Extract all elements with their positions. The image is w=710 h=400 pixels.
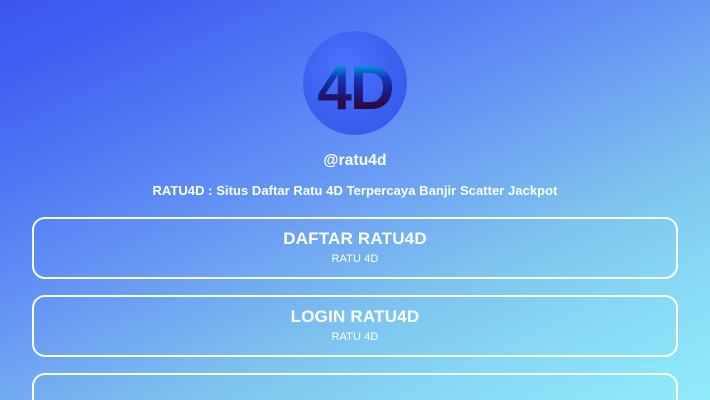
link-button-subtitle: RATU 4D [332, 332, 379, 343]
link-button-login[interactable]: LOGIN RATU4D RATU 4D [32, 295, 678, 357]
avatar: 4D [303, 31, 407, 135]
link-button-title: DAFTAR RATU4D [283, 230, 427, 247]
avatar-4d-logo-icon: 4D [303, 31, 407, 135]
profile-handle: @ratu4d [323, 153, 386, 169]
link-list: DAFTAR RATU4D RATU 4D LOGIN RATU4D RATU … [0, 217, 710, 400]
link-button-title: LOGIN RATU4D [291, 308, 420, 325]
page-background: 4D @ratu4d RATU4D : Situs Daftar Ratu 4D… [0, 0, 710, 400]
avatar-circle: 4D [303, 31, 407, 135]
svg-text:4D: 4D [317, 54, 392, 123]
link-button-third-partial[interactable] [32, 373, 678, 400]
link-button-subtitle: RATU 4D [332, 254, 379, 265]
profile-tagline: RATU4D : Situs Daftar Ratu 4D Terpercaya… [152, 184, 557, 197]
profile-page-content: 4D @ratu4d RATU4D : Situs Daftar Ratu 4D… [0, 0, 710, 400]
link-button-daftar[interactable]: DAFTAR RATU4D RATU 4D [32, 217, 678, 279]
